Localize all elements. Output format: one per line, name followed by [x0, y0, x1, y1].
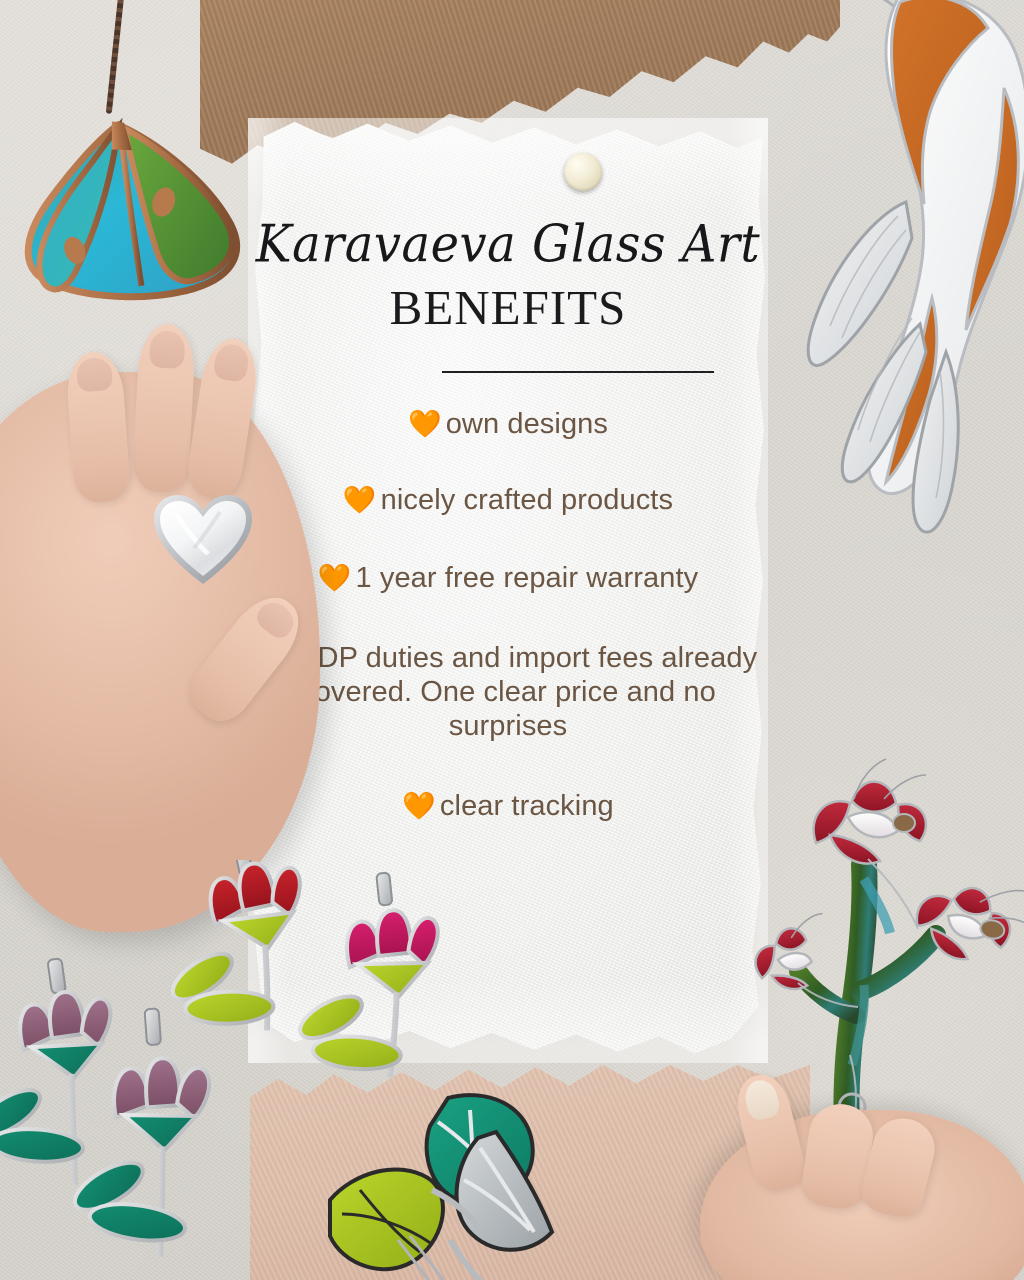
benefit-item-nicely-crafted: 🧡nicely crafted products [248, 484, 768, 518]
orange-heart-icon: 🧡 [343, 485, 377, 515]
benefit-label: nicely crafted products [381, 484, 673, 516]
card-content: Karavaeva Glass Art BENEFITS 🧡own design… [248, 118, 768, 1063]
benefit-label: 1 year free repair warranty [355, 562, 698, 594]
poster-canvas: Karavaeva Glass Art BENEFITS 🧡own design… [0, 0, 1024, 1280]
orange-heart-icon: 🧡 [402, 791, 436, 821]
section-heading: BENEFITS [248, 283, 768, 332]
orange-heart-icon: 🧡 [318, 563, 352, 593]
benefit-item-clear-tracking: 🧡clear tracking [248, 790, 768, 824]
benefit-item-own-designs: 🧡own designs [248, 408, 768, 442]
benefit-label: DDP duties and import fees already cover… [297, 642, 758, 742]
benefit-label: own designs [446, 408, 608, 440]
benefits-list: 🧡own designs 🧡nicely crafted products 🧡1… [248, 408, 768, 823]
benefit-label: clear tracking [440, 790, 614, 822]
orange-heart-icon: 🧡 [408, 409, 442, 439]
benefit-item-ddp-duties: 🧡DDP duties and import fees already cove… [248, 642, 768, 744]
benefit-item-repair-warranty: 🧡1 year free repair warranty [248, 562, 768, 596]
blush-paper-layer [250, 1065, 810, 1280]
orange-heart-icon: 🧡 [259, 643, 293, 673]
page-title: Karavaeva Glass Art [248, 218, 768, 270]
title-divider [442, 371, 714, 373]
